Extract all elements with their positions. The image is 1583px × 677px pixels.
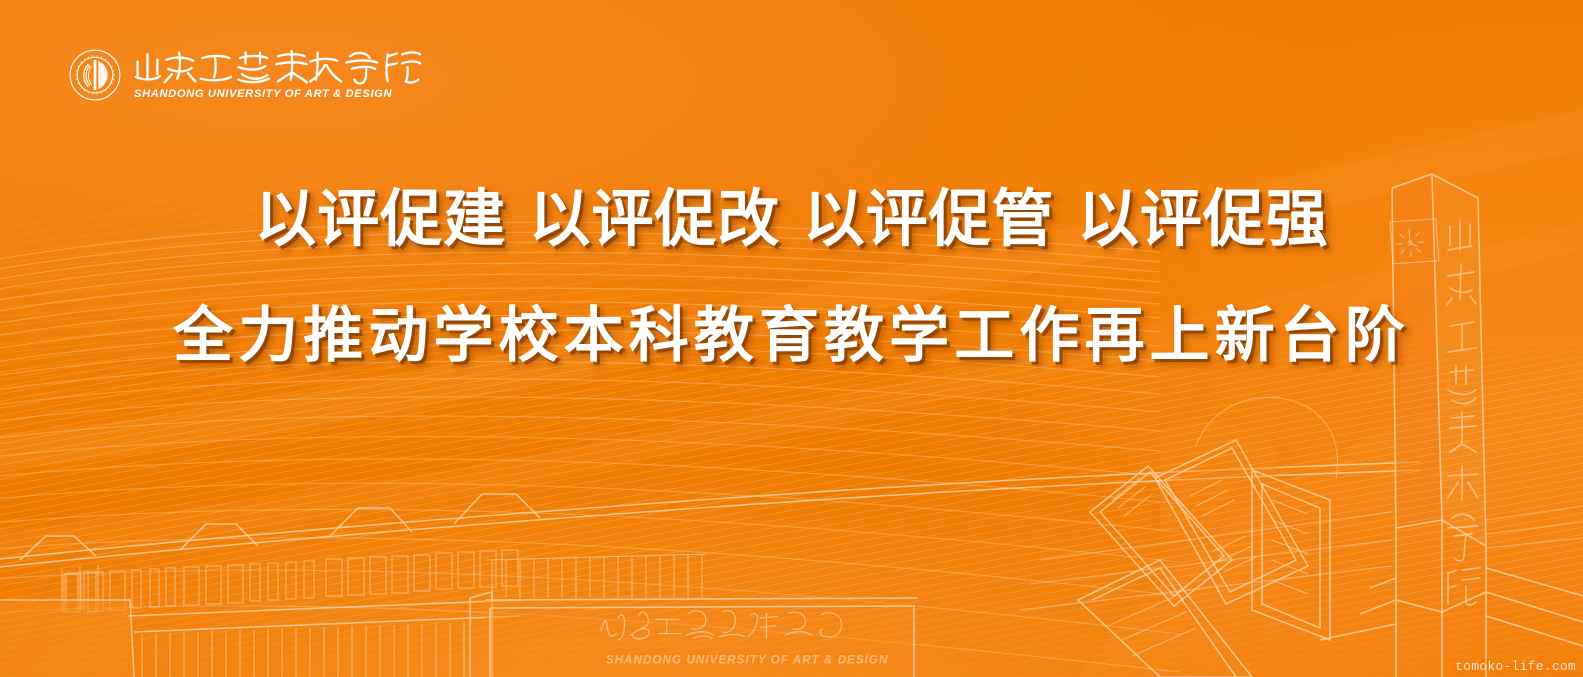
university-seal-emblem	[68, 48, 122, 102]
headline-block: 以评促建 以评促改 以评促管 以评促强 全力推动学校本科教育教学工作再上新台阶	[0, 186, 1583, 368]
headline-line-2: 全力推动学校本科教育教学工作再上新台阶	[0, 305, 1583, 368]
logo-wordmark: SHANDONG UNIVERSITY OF ART & DESIGN	[134, 49, 422, 100]
promo-banner: SHANDONG UNIVERSITY OF ART & DESIGN	[0, 0, 1583, 677]
facade-ghost-english: SHANDONG UNIVERSITY OF ART & DESIGN	[606, 653, 889, 666]
university-logo[interactable]: SHANDONG UNIVERSITY OF ART & DESIGN	[68, 48, 422, 102]
logo-english-name: SHANDONG UNIVERSITY OF ART & DESIGN	[134, 89, 422, 100]
headline-line-1: 以评促建 以评促改 以评促管 以评促强	[0, 186, 1583, 251]
site-watermark: tomoko-life.com	[1452, 658, 1579, 675]
logo-chinese-name	[134, 49, 422, 85]
